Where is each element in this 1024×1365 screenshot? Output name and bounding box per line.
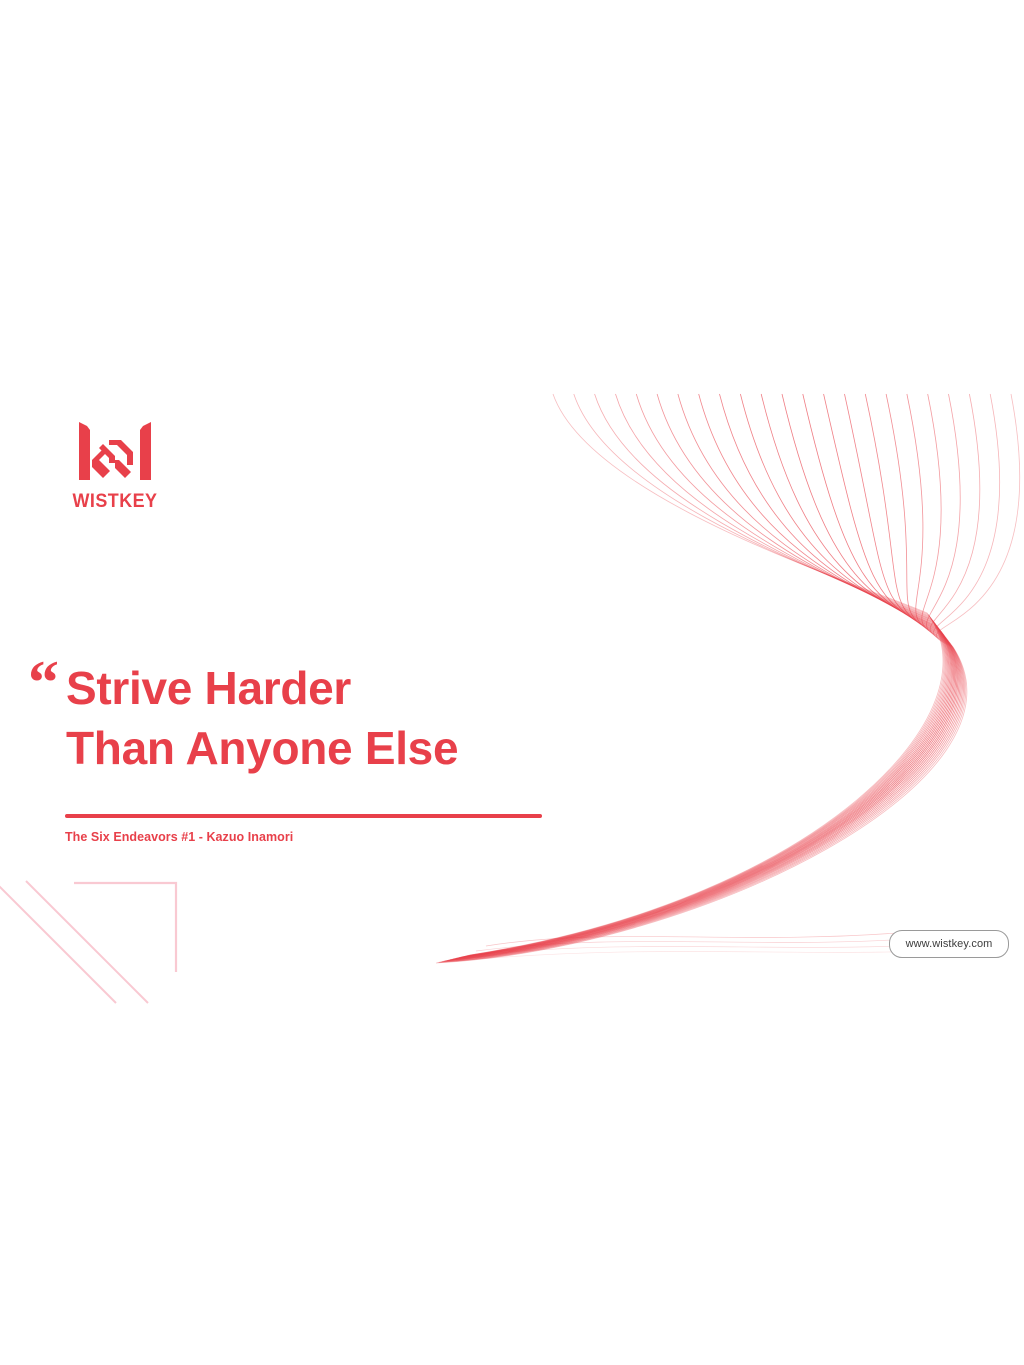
- website-badge[interactable]: www.wistkey.com: [889, 930, 1009, 958]
- quote-attribution: The Six Endeavors #1 - Kazuo Inamori: [65, 830, 293, 844]
- swirl-tail-line: [466, 942, 962, 956]
- corner-frame-path: [74, 883, 176, 972]
- quote-text: Strive Harder Than Anyone Else: [66, 658, 642, 778]
- corner-diagonal-line-1: [0, 881, 116, 1003]
- swirl-tail-line: [486, 932, 910, 946]
- open-quote-icon: “: [28, 652, 59, 714]
- website-badge-label: www.wistkey.com: [906, 939, 993, 950]
- quote-block: “ Strive Harder Than Anyone Else: [22, 658, 642, 778]
- brand-wordmark: WISTKEY: [64, 492, 165, 512]
- corner-diagonal-line-2: [26, 881, 148, 1003]
- slide-canvas: WISTKEY “ Strive Harder Than Anyone Else…: [0, 0, 1024, 1365]
- brand-logo: WISTKEY: [60, 420, 170, 520]
- quote-divider: [65, 814, 542, 818]
- wistkey-w-monogram-icon: [73, 420, 157, 486]
- swirl-tail-line: [476, 937, 936, 951]
- corner-frame-decoration: [0, 855, 220, 995]
- quote-line-2: Than Anyone Else: [66, 718, 642, 778]
- quote-line-1: Strive Harder: [66, 658, 642, 718]
